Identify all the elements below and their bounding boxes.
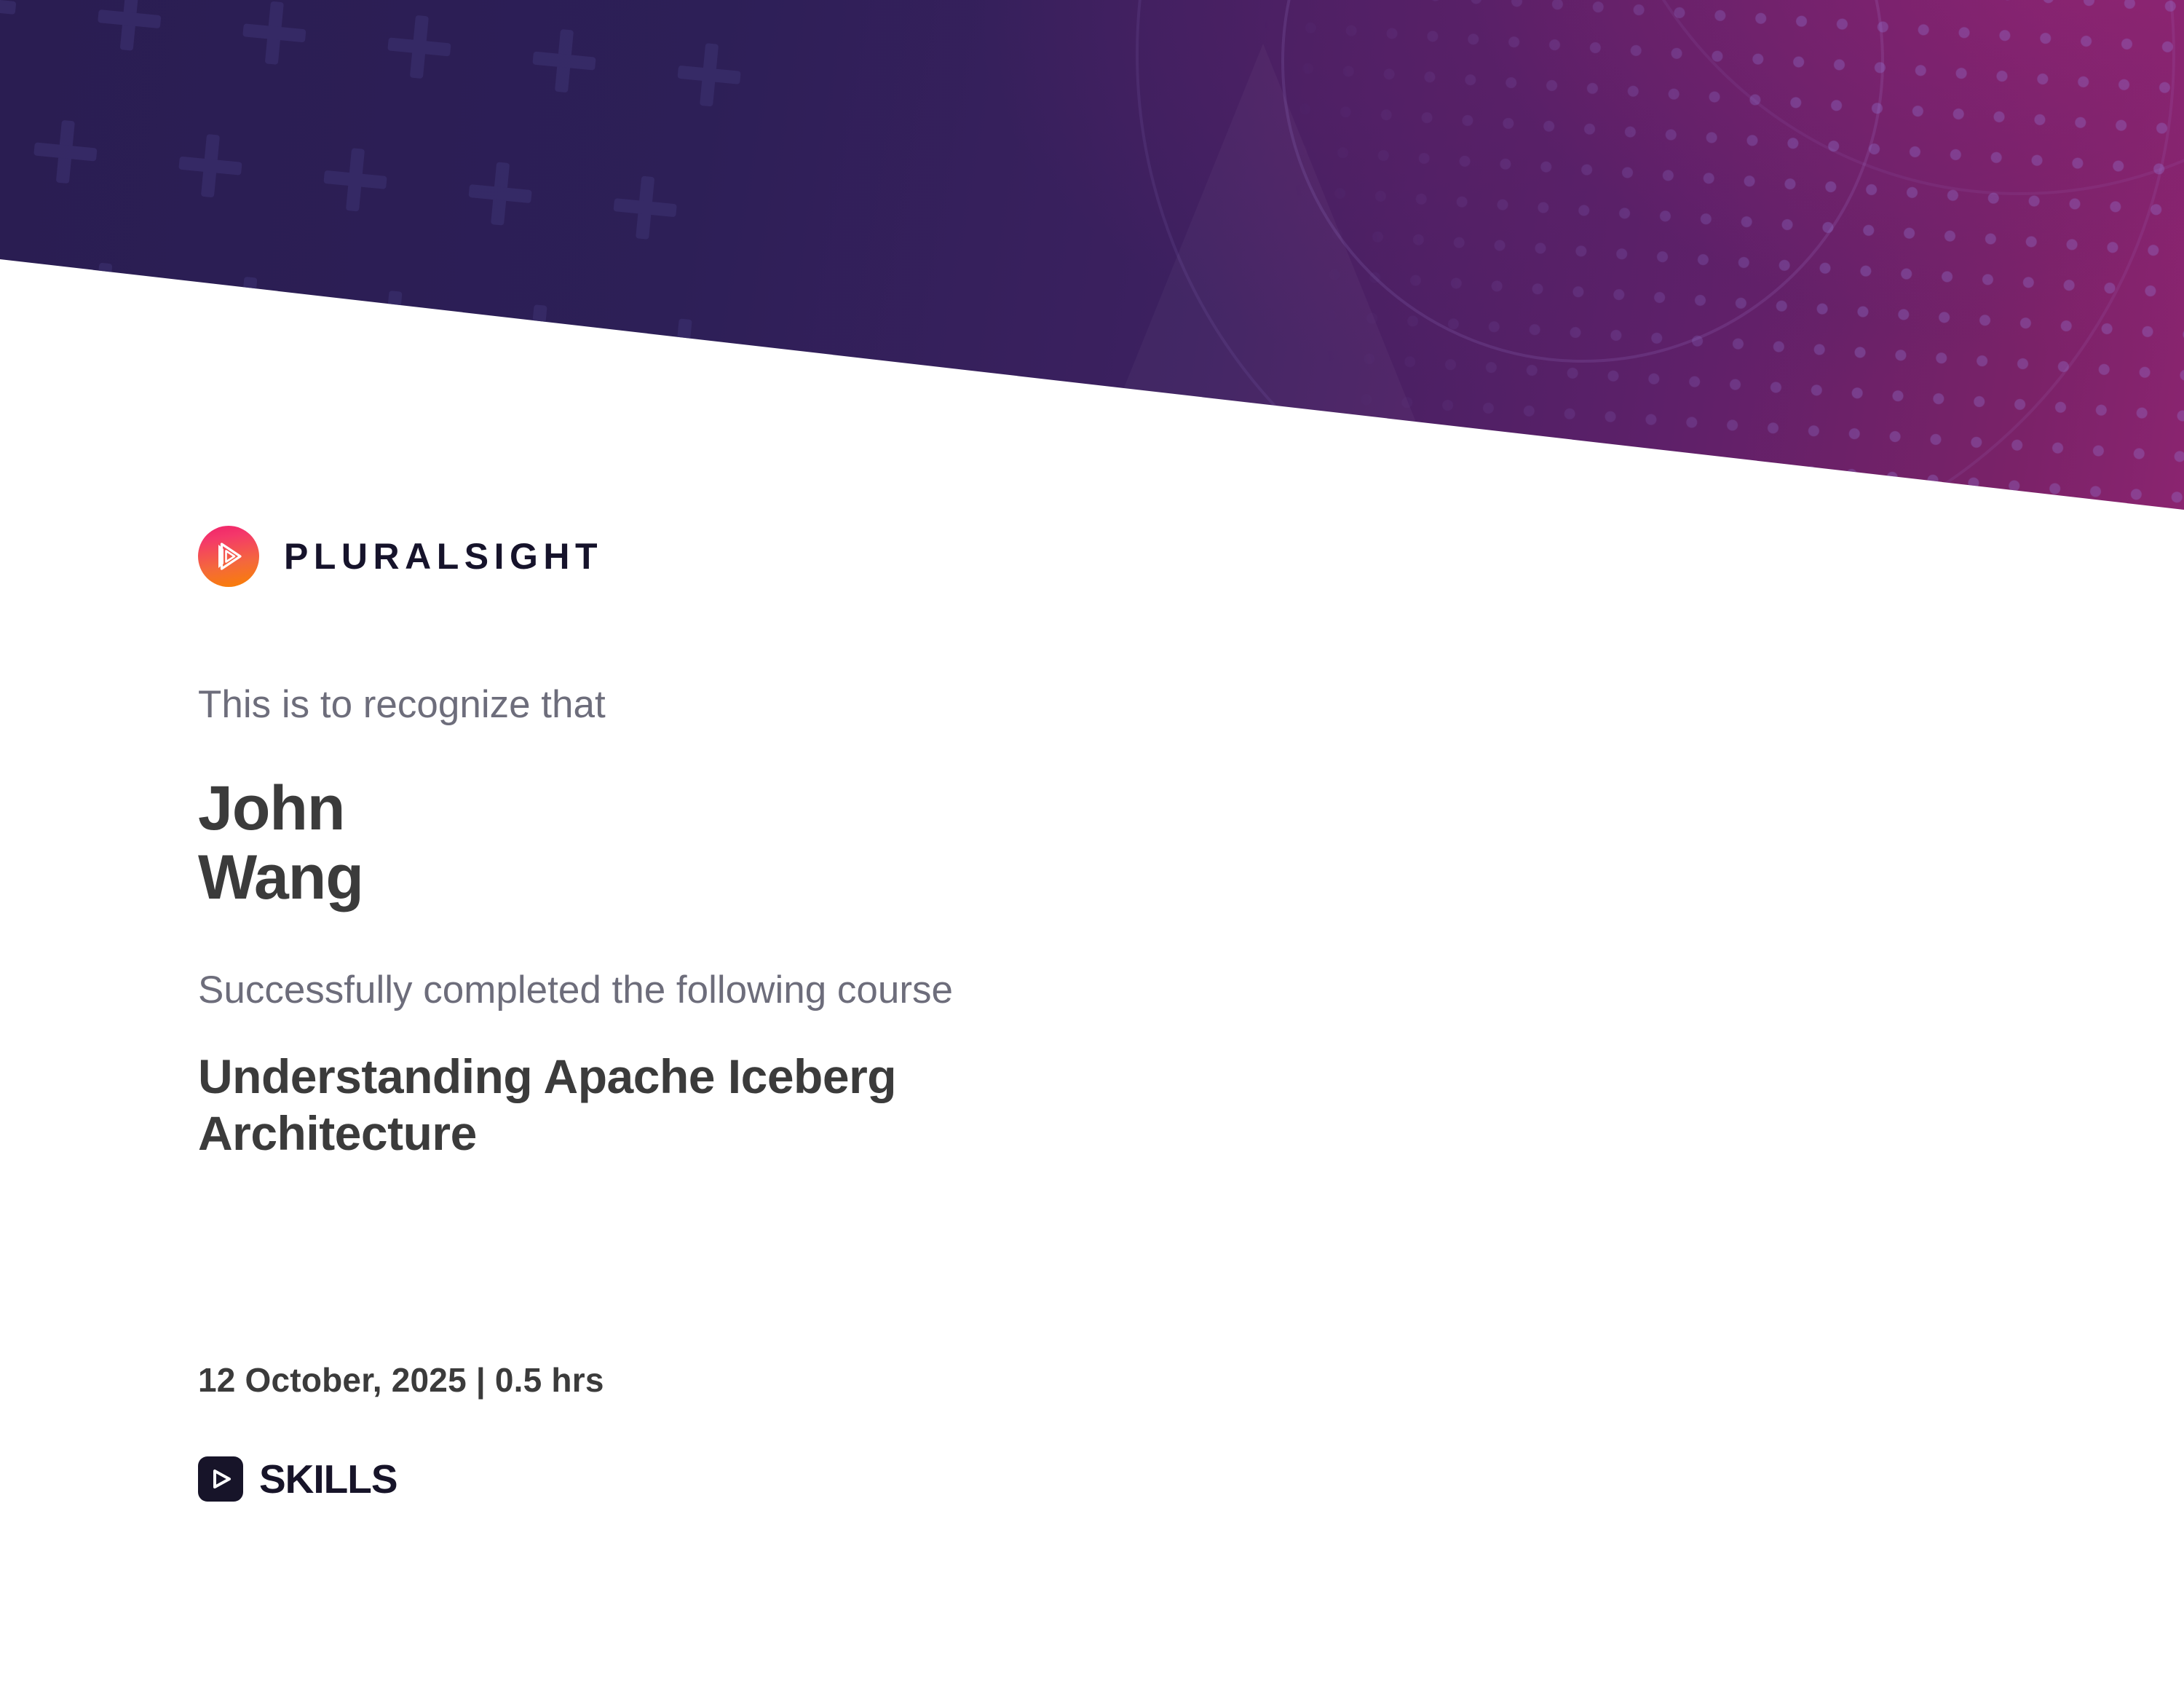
plus-icon [0, 0, 19, 39]
plus-icon [295, 421, 363, 489]
plus-icon [359, 288, 427, 357]
skills-badge-lockup: SKILLS [198, 1456, 397, 1502]
plus-icon [31, 118, 100, 186]
header-banner [0, 0, 2184, 524]
recognize-label: This is to recognize that [198, 683, 606, 727]
plus-icon [213, 275, 282, 343]
completed-label: Successfully completed the following cou… [198, 969, 953, 1013]
plus-icon [611, 173, 679, 242]
date-and-duration: 12 October, 2025 | 0.5 hrs [198, 1360, 604, 1400]
plus-pattern [0, 0, 753, 524]
pluralsight-wordmark: PLURALSIGHT [284, 538, 603, 575]
pluralsight-play-icon [198, 526, 259, 587]
plus-icon [5, 393, 74, 462]
plus-icon [466, 159, 534, 228]
plus-icon [585, 449, 653, 518]
plus-icon [385, 13, 454, 82]
recipient-name: John Wang [198, 774, 363, 912]
plus-icon [321, 146, 389, 214]
plus-icon [530, 27, 598, 95]
plus-icon [504, 302, 572, 371]
plus-icon [68, 260, 137, 328]
course-title: Understanding Apache Iceberg Architectur… [198, 1049, 1159, 1162]
plus-icon [176, 132, 245, 200]
pluralsight-brand-lockup: PLURALSIGHT [198, 526, 603, 587]
skills-wordmark: SKILLS [259, 1459, 397, 1499]
halftone-dot-pattern [1125, 0, 2184, 524]
plus-icon [150, 407, 218, 476]
skills-play-icon [198, 1456, 243, 1502]
certificate-page: PLURALSIGHT This is to recognize that Jo… [0, 0, 2184, 1688]
plus-icon [95, 0, 164, 53]
plus-icon [649, 316, 717, 384]
plus-icon [675, 41, 743, 109]
plus-icon [440, 435, 508, 503]
plus-icon [240, 0, 309, 67]
